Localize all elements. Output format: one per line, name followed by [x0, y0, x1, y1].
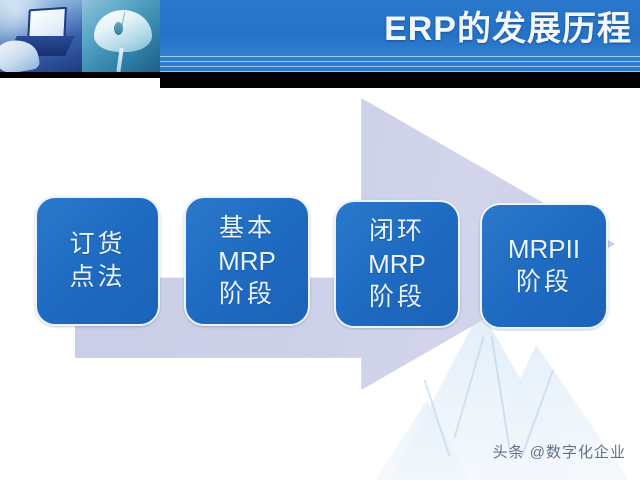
mountain-ridge-1 — [454, 337, 485, 438]
stage-box-1-line-2: 点法 — [69, 261, 125, 294]
stage-box-2-line-1: 基本 — [219, 212, 275, 245]
stage-box-3[interactable]: 闭环 MRP 阶段 — [334, 200, 460, 328]
stage-box-4[interactable]: MRPII 阶段 — [480, 203, 608, 329]
header-rule-3 — [160, 66, 640, 67]
stage-box-3-line-1: 闭环 — [369, 215, 425, 248]
stage-box-2-line-2: MRP — [218, 245, 276, 278]
stage-box-1[interactable]: 订货 点法 — [35, 196, 160, 326]
header-photo-strip — [0, 0, 160, 72]
stage-box-2[interactable]: 基本 MRP 阶段 — [184, 196, 310, 326]
header-rule-1 — [160, 56, 640, 57]
mouse-wheel-shape — [114, 22, 123, 35]
laptop-photo — [0, 0, 82, 72]
mountain-peak-3 — [350, 400, 490, 480]
watermark-text: 头条 @数字化企业 — [493, 441, 626, 462]
mountain-ridge-2 — [491, 336, 512, 455]
header-rule-2 — [160, 61, 640, 62]
stage-box-2-line-3: 阶段 — [219, 278, 275, 311]
slide-canvas: ERP的发展历程 订货 点法 基本 MRP 阶段 — [0, 0, 640, 480]
stage-box-3-line-2: MRP — [368, 248, 426, 281]
stage-box-3-line-3: 阶段 — [369, 281, 425, 314]
mountain-ridge-4 — [424, 380, 451, 457]
stage-box-4-line-1: MRPII — [508, 233, 580, 266]
stage-box-1-line-1: 订货 — [69, 228, 125, 261]
header-white-notch — [0, 78, 160, 90]
computer-mouse-photo — [82, 0, 160, 72]
stage-box-4-line-2: 阶段 — [516, 266, 572, 299]
